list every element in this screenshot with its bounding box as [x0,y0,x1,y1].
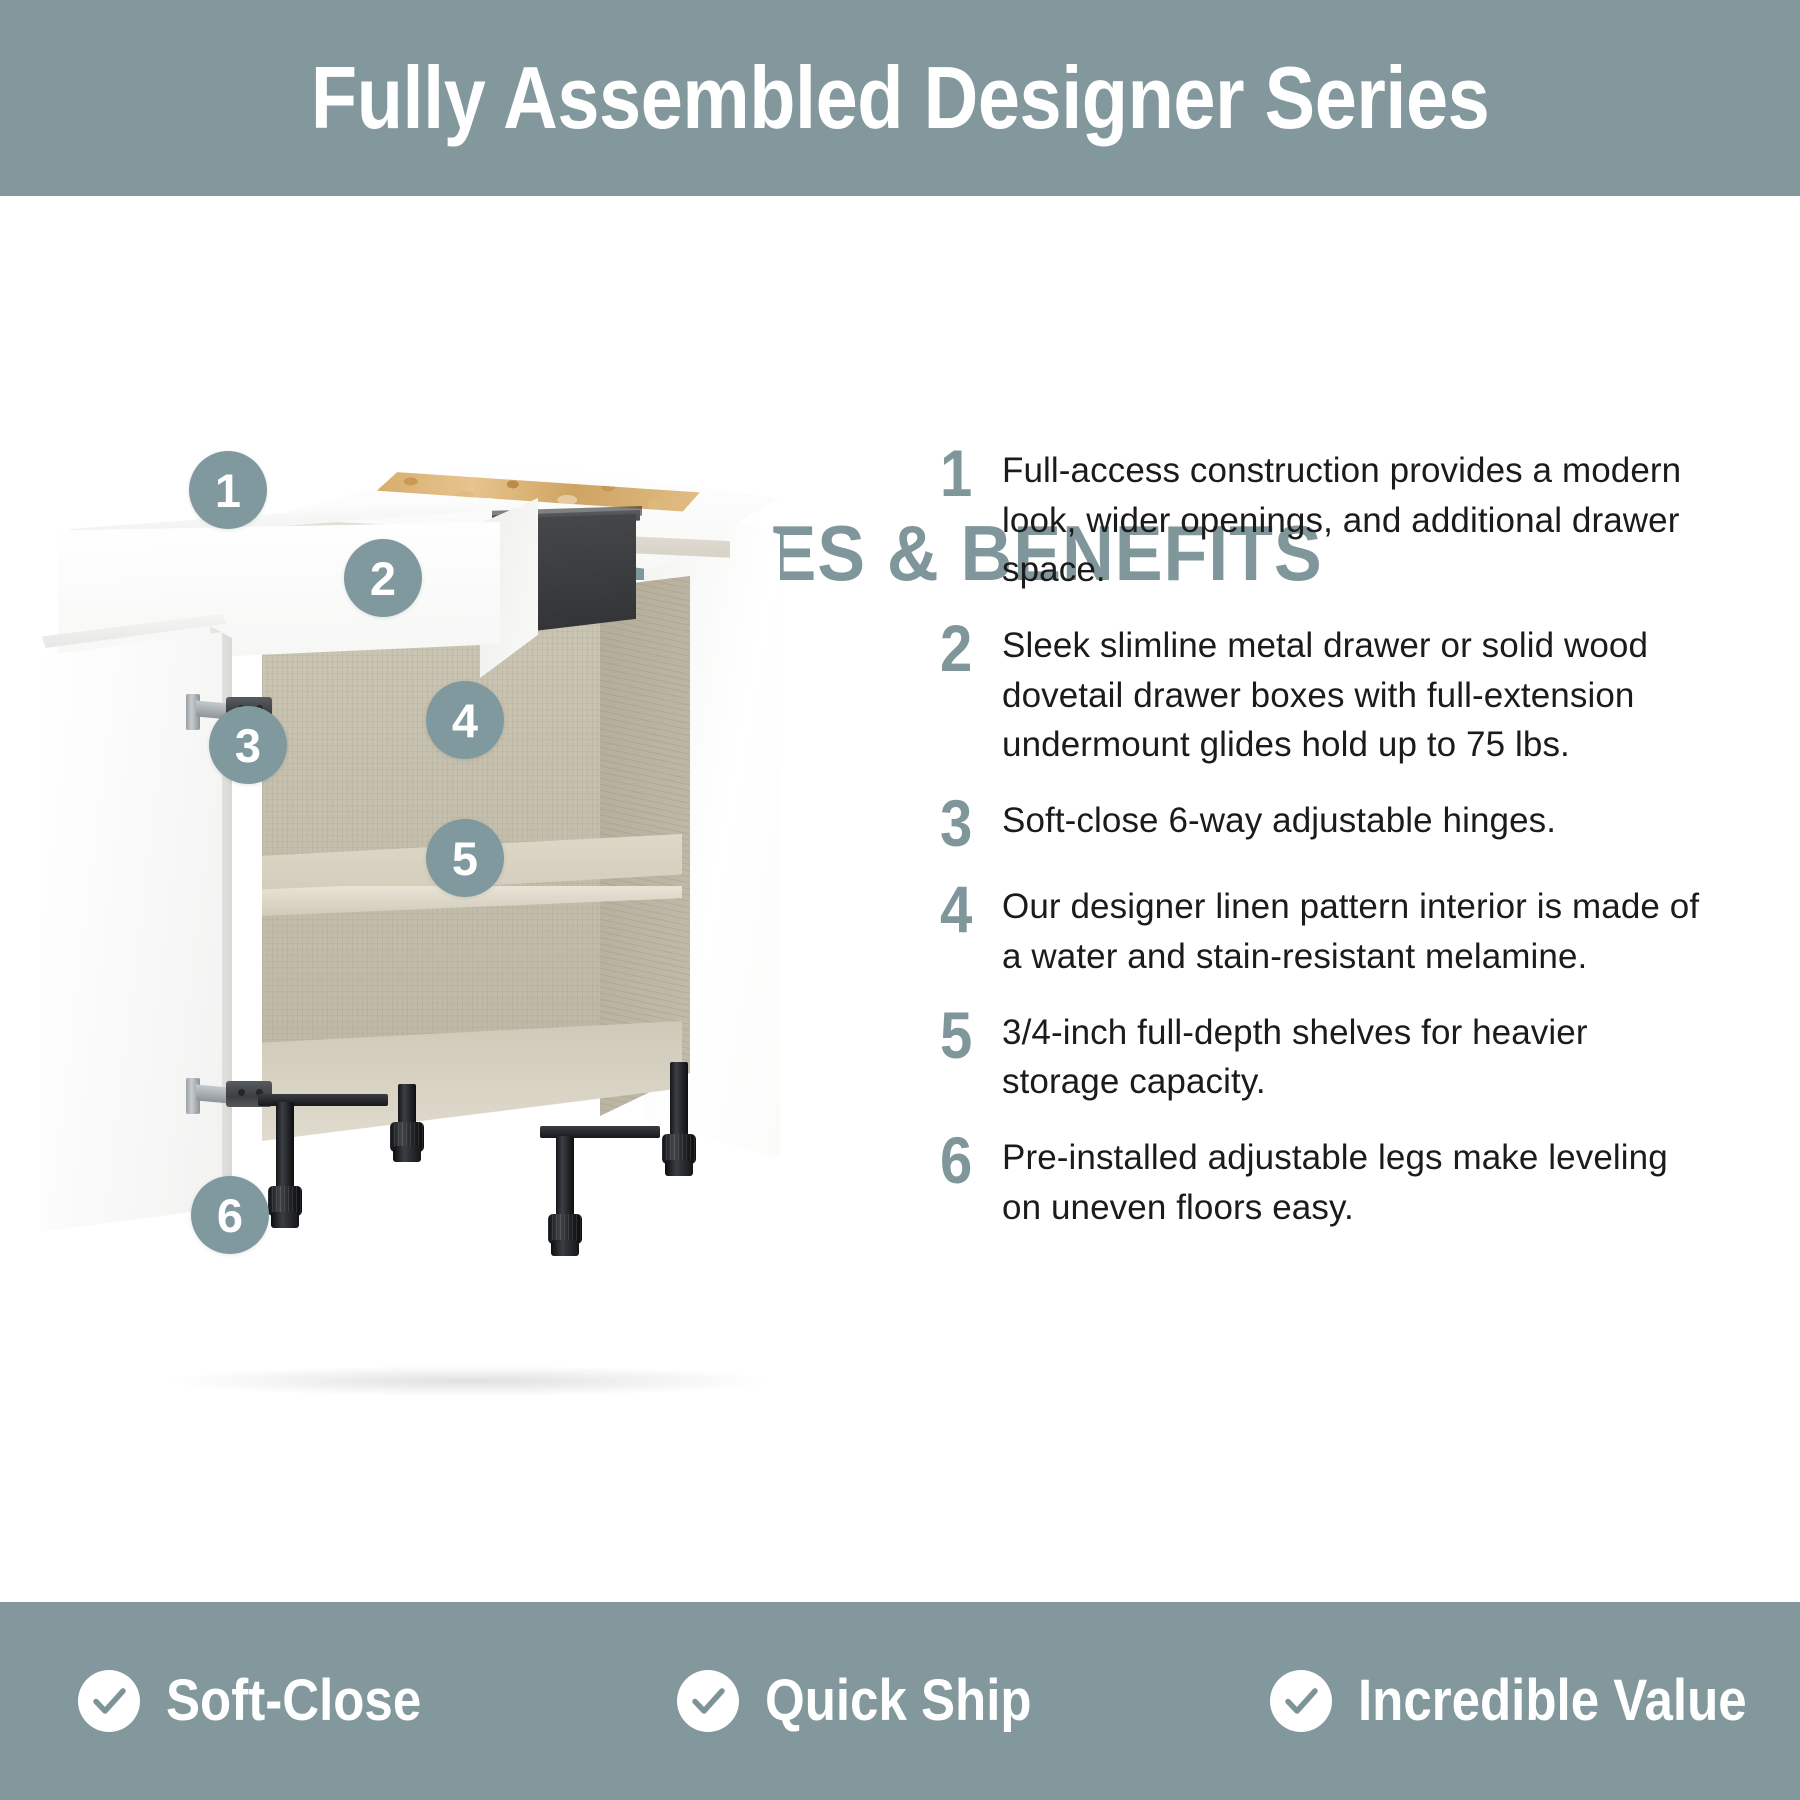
floor-shadow [170,1366,770,1396]
callout-badge-1: 1 [189,451,267,529]
feature-description: 3/4-inch full-depth shelves for heavier … [1002,1008,1702,1107]
callout-number: 2 [370,555,396,602]
footer-badge-soft-close: Soft-Close [0,1670,605,1732]
feature-item: 2 Sleek slimline metal drawer or solid w… [940,621,1740,770]
callout-badge-3: 3 [209,706,287,784]
check-circle-icon [1270,1670,1332,1732]
feature-item: 4 Our designer linen pattern interior is… [940,882,1740,981]
callout-number: 6 [217,1192,243,1239]
feature-item: 5 3/4-inch full-depth shelves for heavie… [940,1008,1740,1107]
feature-item: 3 Soft-close 6-way adjustable hinges. [940,796,1740,856]
features-list: 1 Full-access construction provides a mo… [940,446,1740,1258]
page-title: Fully Assembled Designer Series [311,54,1489,142]
callout-number: 1 [215,467,241,514]
footer-badge-incredible-value: Incredible Value [1204,1670,1800,1732]
product-illustration [40,436,900,1526]
feature-description: Sleek slimline metal drawer or solid woo… [1002,621,1702,770]
feature-number: 2 [940,615,995,681]
callout-badge-6: 6 [191,1176,269,1254]
check-circle-icon [78,1670,140,1732]
feature-number: 6 [940,1127,995,1193]
callout-number: 5 [452,835,478,882]
feature-description: Our designer linen pattern interior is m… [1002,882,1702,981]
header-banner: Fully Assembled Designer Series [0,0,1800,196]
feature-number: 3 [940,790,995,856]
feature-number: 1 [940,440,995,506]
main-content: FEATURES & BENEFITS [0,196,1800,1602]
feature-item: 1 Full-access construction provides a mo… [940,446,1740,595]
drawer-front-panel [58,522,500,664]
feature-number: 5 [940,1002,995,1068]
footer-badge-quick-ship: Quick Ship [605,1670,1204,1732]
feature-description: Pre-installed adjustable legs make level… [1002,1133,1702,1232]
feature-description: Soft-close 6-way adjustable hinges. [1002,796,1556,846]
feature-description: Full-access construction provides a mode… [1002,446,1702,595]
feature-number: 4 [940,876,995,942]
callout-number: 4 [452,697,478,744]
callout-number: 3 [235,722,261,769]
feature-item: 6 Pre-installed adjustable legs make lev… [940,1133,1740,1232]
footer-banner: Soft-Close Quick Ship Incredible Value [0,1602,1800,1800]
callout-badge-4: 4 [426,681,504,759]
callout-badge-2: 2 [344,539,422,617]
footer-badge-label: Incredible Value [1358,1672,1747,1730]
footer-badge-label: Soft-Close [166,1672,421,1730]
callout-badge-5: 5 [426,819,504,897]
check-circle-icon [677,1670,739,1732]
footer-badge-label: Quick Ship [765,1672,1032,1730]
